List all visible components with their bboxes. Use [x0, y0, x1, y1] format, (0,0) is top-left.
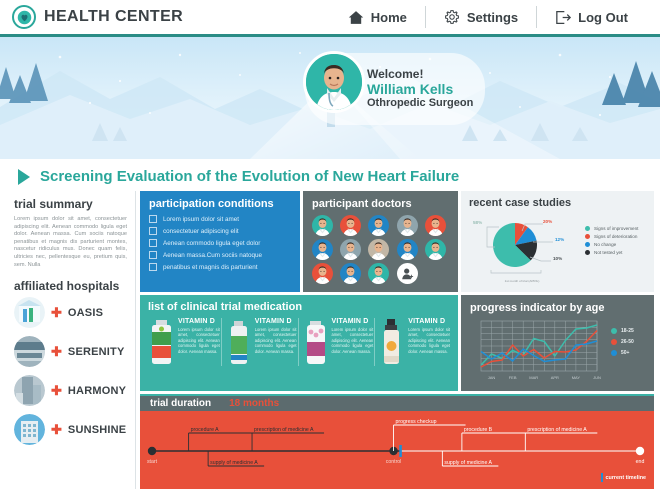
list-item[interactable]: ✚ SUNSHINE: [14, 414, 127, 445]
medication-desc: Lorem ipsum dolor sit amet, consectetuer…: [408, 327, 450, 354]
panels-row-one: participation conditions Lorem ipsum dol…: [140, 191, 654, 292]
hospital-photo: [14, 414, 45, 445]
pie-graphic: 58% 20% 12% 10% 1st month of trial (APRI…: [469, 214, 581, 284]
add-doctor-button[interactable]: [397, 263, 418, 284]
nav-links: Home Settings Log Out: [330, 0, 646, 34]
legend-label: Signs of deterioration: [594, 234, 637, 239]
hospital-name: SUNSHINE: [68, 424, 126, 436]
medication-bottle-icon: [302, 318, 329, 366]
hospital-name: OASIS: [68, 307, 103, 319]
recent-case-studies-title: recent case studies: [469, 197, 646, 209]
heart-in-circle-logo: [12, 5, 36, 29]
page-title-text: Screening Evaluation of the Evolution of…: [40, 168, 459, 185]
top-navbar: HEALTH CENTER Home Settings: [0, 0, 660, 37]
svg-text:JUN: JUN: [593, 375, 601, 380]
nav-settings-label: Settings: [467, 10, 518, 25]
nav-settings[interactable]: Settings: [425, 6, 536, 28]
medication-desc: Lorem ipsum dolor sit amet, consectetuer…: [332, 327, 374, 354]
checkbox-label: Aenean commodo ligula eget dolor: [163, 240, 260, 247]
timeline-svg: startcontrolendprocedure Aprescription o…: [140, 411, 654, 489]
panels-row-two: list of clinical trial medication: [140, 295, 654, 391]
person-add-icon: [401, 267, 414, 280]
participation-conditions-title: participation conditions: [149, 198, 291, 210]
doctor-avatar[interactable]: [312, 215, 333, 236]
trial-duration-value: 18 months: [229, 398, 279, 409]
checkbox[interactable]: [149, 263, 157, 271]
play-triangle-icon: [18, 169, 30, 185]
medication-title: list of clinical trial medication: [148, 301, 450, 313]
app-page: HEALTH CENTER Home Settings: [0, 0, 660, 481]
medication-bottle-icon: [148, 318, 175, 366]
nav-home-label: Home: [371, 10, 407, 25]
pie-chart: 58% 20% 12% 10% 1st month of trial (APRI…: [469, 214, 646, 284]
content-area: participation conditions Lorem ipsum dol…: [136, 191, 654, 489]
list-item[interactable]: ✚ HARMONY: [14, 375, 127, 406]
doctor-avatar: [303, 51, 365, 113]
legend-item: Signs of deterioration: [585, 234, 638, 239]
checkbox-row[interactable]: Aenean commodo ligula eget dolor: [149, 239, 291, 247]
checkbox-label: penatibus et magnis dis parturient: [163, 264, 258, 271]
svg-text:supply of medicine A: supply of medicine A: [444, 460, 492, 466]
medication-spray-icon: [378, 318, 405, 366]
line-chart-svg: JANFEBMARAPRMAYJUN: [470, 319, 608, 383]
current-timeline-label: current timeline: [606, 475, 646, 481]
legend-item: No change: [585, 242, 638, 247]
red-cross-icon: ✚: [51, 423, 62, 436]
medication-name: VITAMIN D: [408, 318, 450, 325]
medication-name: VITAMIN D: [332, 318, 374, 325]
svg-text:start: start: [147, 459, 158, 465]
doctor-avatar[interactable]: [340, 263, 361, 284]
hospital-name: SERENITY: [68, 346, 125, 358]
doctor-avatar[interactable]: [368, 215, 389, 236]
pie-label-not-tested: 10%: [553, 256, 562, 261]
pie-label-improvement: 58%: [473, 220, 482, 225]
welcome-label: Welcome!: [367, 68, 473, 81]
affiliated-hospitals-title: affiliated hospitals: [14, 279, 127, 293]
line-chart: JANFEBMARAPRMAYJUN 18-25 26-50 50+: [470, 319, 645, 383]
checkbox-row[interactable]: penatibus et magnis dis parturient: [149, 263, 291, 271]
list-item[interactable]: VITAMIN D Lorem ipsum dolor sit amet, co…: [148, 318, 220, 366]
brand-title: HEALTH CENTER: [44, 8, 183, 26]
legend-label: Not tested yet: [594, 250, 622, 255]
pie-svg: [469, 214, 581, 276]
doctor-avatar[interactable]: [425, 215, 446, 236]
participant-doctors-title: participant doctors: [312, 198, 449, 210]
doctor-avatar[interactable]: [368, 263, 389, 284]
legend-label: Signs of improvement: [594, 226, 638, 231]
legend-item: 18-25: [611, 328, 645, 334]
doctor-avatar[interactable]: [425, 239, 446, 260]
checkbox-row[interactable]: Lorem ipsum dolor sit amet: [149, 215, 291, 223]
sidebar: trial summary Lorem ipsum dolor sit amet…: [0, 191, 136, 489]
medication-name: VITAMIN D: [178, 318, 220, 325]
page-title: Screening Evaluation of the Evolution of…: [0, 159, 660, 191]
hero-banner: Welcome! William Kells Othropedic Surgeo…: [0, 37, 660, 159]
svg-text:end: end: [636, 459, 645, 465]
trial-duration-title: trial duration: [150, 398, 211, 409]
nav-logout-label: Log Out: [578, 10, 628, 25]
legend-label: 18-25: [621, 328, 634, 334]
line-chart-legend: 18-25 26-50 50+: [611, 319, 645, 383]
legend-label: 50+: [621, 350, 629, 356]
checkbox-row[interactable]: Aenean massa.Cum sociis natoque: [149, 251, 291, 259]
timeline-body[interactable]: startcontrolendprocedure Aprescription o…: [140, 411, 654, 489]
checkbox[interactable]: [149, 215, 157, 223]
list-item[interactable]: ✚ OASIS: [14, 297, 127, 328]
medication-list: VITAMIN D Lorem ipsum dolor sit amet, co…: [148, 318, 450, 366]
hospital-photo: [14, 297, 45, 328]
pie-caption: 1st month of trial (APRIL): [483, 279, 561, 283]
checkbox-label: consectetuer adipiscing elit: [163, 228, 239, 235]
legend-label: 26-50: [621, 339, 634, 345]
trial-duration-header: trial duration 18 months: [140, 394, 654, 411]
avatar[interactable]: [305, 57, 367, 119]
legend-label: No change: [594, 242, 616, 247]
red-cross-icon: ✚: [51, 345, 62, 358]
doctor-avatar[interactable]: [312, 263, 333, 284]
svg-text:APR: APR: [551, 375, 559, 380]
list-item[interactable]: VITAMIN D Lorem ipsum dolor sit amet, co…: [221, 318, 297, 366]
user-name: William Kells: [367, 81, 473, 97]
list-item[interactable]: ✚ SERENITY: [14, 336, 127, 367]
checkbox[interactable]: [149, 227, 157, 235]
medication-bottle-icon: [225, 318, 252, 366]
nav-logout[interactable]: Log Out: [536, 6, 646, 28]
doctor-avatar[interactable]: [368, 239, 389, 260]
doctor-avatar[interactable]: [397, 239, 418, 260]
nav-home[interactable]: Home: [330, 6, 425, 28]
hospital-photo: [14, 336, 45, 367]
progress-indicator-panel: progress indicator by age JANFEBMARAPRMA…: [461, 295, 654, 391]
trial-summary-text: Lorem ipsum dolor sit amet, consectetuer…: [14, 216, 127, 269]
checkbox-label: Lorem ipsum dolor sit amet: [163, 216, 239, 223]
gear-icon: [444, 9, 461, 26]
red-cross-icon: ✚: [51, 306, 62, 319]
home-icon: [348, 9, 365, 26]
user-role: Othropedic Surgeon: [367, 97, 473, 110]
svg-text:prescription of medicine A: prescription of medicine A: [254, 427, 314, 433]
checkbox-label: Aenean massa.Cum sociis natoque: [163, 252, 262, 259]
svg-text:procedure B: procedure B: [464, 427, 493, 433]
medication-name: VITAMIN D: [255, 318, 297, 325]
participant-doctors-panel: participant doctors: [303, 191, 458, 292]
doctor-avatar[interactable]: [397, 215, 418, 236]
legend-item: Not tested yet: [585, 250, 638, 255]
red-cross-icon: ✚: [51, 384, 62, 397]
svg-text:MAR: MAR: [529, 375, 538, 380]
svg-text:procedure A: procedure A: [191, 427, 220, 433]
pie-label-no-change: 12%: [555, 237, 564, 242]
pie-label-deterioration: 20%: [543, 219, 552, 224]
brand[interactable]: HEALTH CENTER: [12, 5, 183, 29]
medication-desc: Lorem ipsum dolor sit amet, consectetuer…: [255, 327, 297, 354]
svg-text:JAN: JAN: [488, 375, 496, 380]
checkbox[interactable]: [149, 239, 157, 247]
checkbox[interactable]: [149, 251, 157, 259]
list-item[interactable]: VITAMIN D Lorem ipsum dolor sit amet, co…: [298, 318, 374, 366]
svg-text:progress checkup: progress checkup: [396, 419, 437, 425]
doctor-avatar[interactable]: [340, 239, 361, 260]
hospital-name: HARMONY: [68, 385, 126, 397]
svg-text:MAY: MAY: [572, 375, 581, 380]
recent-case-studies-panel: recent case studies: [461, 191, 654, 292]
legend-item: Signs of improvement: [585, 226, 638, 231]
checkbox-row[interactable]: consectetuer adipiscing elit: [149, 227, 291, 235]
participation-conditions-panel: participation conditions Lorem ipsum dol…: [140, 191, 300, 292]
hospital-photo: [14, 375, 45, 406]
svg-text:FEB: FEB: [509, 375, 517, 380]
medication-panel: list of clinical trial medication: [140, 295, 458, 391]
trial-duration-panel: trial duration 18 months startcontrolend…: [140, 394, 654, 489]
medication-desc: Lorem ipsum dolor sit amet, consectetuer…: [178, 327, 220, 354]
doctor-avatar[interactable]: [312, 239, 333, 260]
legend-item: 26-50: [611, 339, 645, 345]
logout-icon: [555, 9, 572, 26]
progress-indicator-title: progress indicator by age: [470, 302, 645, 314]
pie-legend: Signs of improvement Signs of deteriorat…: [585, 214, 638, 284]
svg-text:prescription of medicine A: prescription of medicine A: [527, 427, 587, 433]
list-item[interactable]: VITAMIN D Lorem ipsum dolor sit amet, co…: [374, 318, 450, 366]
doctor-avatar[interactable]: [340, 215, 361, 236]
trial-summary-title: trial summary: [14, 197, 127, 211]
main-body: trial summary Lorem ipsum dolor sit amet…: [0, 191, 660, 489]
legend-item: 50+: [611, 350, 645, 356]
svg-text:supply of medicine A: supply of medicine A: [210, 460, 258, 466]
doctor-grid: [312, 215, 449, 284]
svg-text:control: control: [386, 459, 402, 465]
